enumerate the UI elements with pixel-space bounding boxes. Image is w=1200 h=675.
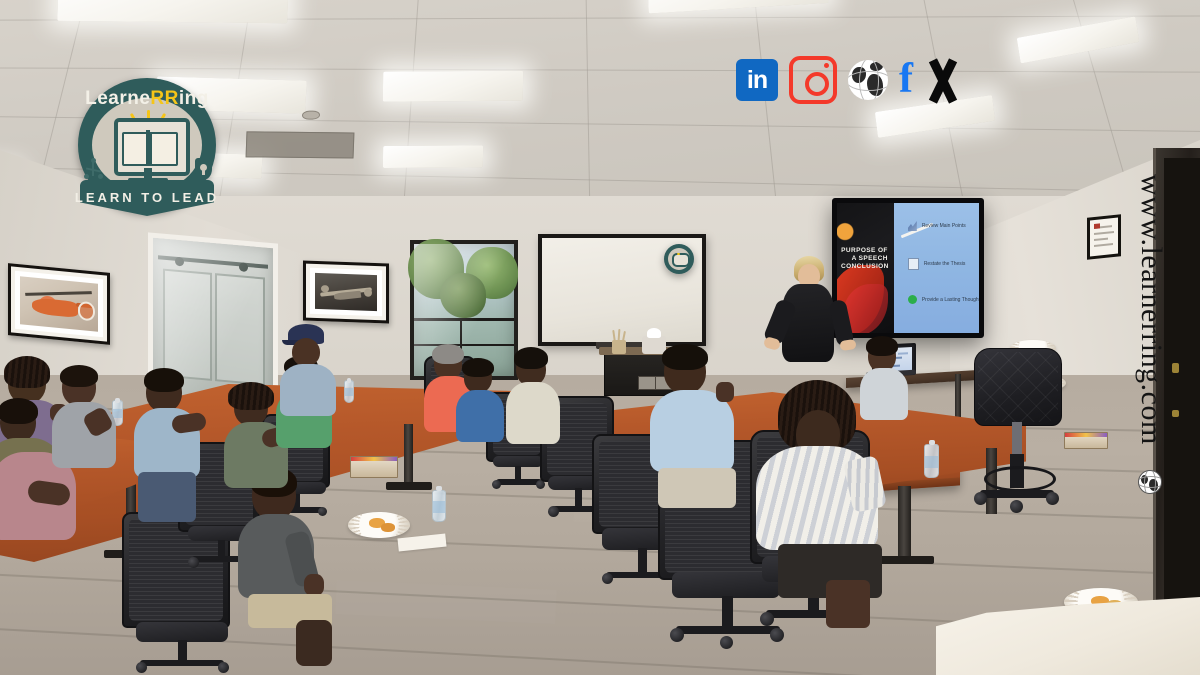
social-icon-row: in f: [736, 56, 962, 104]
ceiling-light: [383, 145, 483, 168]
linkedin-icon-label: in: [747, 68, 767, 93]
table-leg: [404, 424, 413, 486]
logo-brand-part2: RR: [150, 88, 178, 109]
url-globe-icon: [1138, 470, 1162, 494]
x-twitter-icon[interactable]: [924, 61, 962, 99]
table-leg: [898, 486, 911, 560]
slide-title: PURPOSE OF A SPEECH CONCLUSION: [841, 247, 888, 271]
open-book-icon: [150, 132, 178, 166]
snack-plate: [348, 512, 410, 538]
student: [130, 372, 208, 522]
student: [650, 348, 744, 538]
logo-tagline: LEARN TO LEAD: [62, 190, 232, 205]
learnerring-logo: LearneRRing LEARN TO LEAD: [62, 70, 232, 230]
presentation-tv: PURPOSE OF A SPEECH CONCLUSION Review Ma…: [832, 198, 984, 338]
facebook-icon-label: f: [899, 61, 913, 99]
whiteboard: [538, 234, 706, 346]
book-stack: [350, 456, 398, 478]
helicopter-photo: [8, 263, 110, 345]
slide-bullet-text: Review Main Points: [922, 223, 966, 229]
osprey-photo: [303, 260, 389, 323]
slide-bullet-text: Restate the Thesis: [924, 261, 966, 267]
student: [506, 352, 568, 470]
logo-brand-name: LearneRRing: [62, 88, 232, 110]
student: [52, 368, 124, 508]
linkedin-icon[interactable]: in: [736, 59, 778, 101]
book-stack: [1064, 432, 1108, 449]
facebook-icon[interactable]: f: [899, 61, 913, 99]
globe-icon[interactable]: [848, 60, 888, 100]
document-icon: [908, 258, 919, 270]
slide-bullet: Provide a Lasting Thought: [908, 295, 979, 304]
water-bottle: [924, 440, 939, 478]
slide-body-panel: Review Main Points Restate the Thesis Pr…: [894, 203, 979, 333]
presenter: [776, 256, 846, 388]
student: [456, 362, 512, 466]
network-node-icon: [84, 158, 104, 182]
slide-bullet-text: Provide a Lasting Thought: [922, 297, 979, 303]
pencil-cup: [612, 340, 626, 354]
smoke-detector-icon: [302, 110, 320, 119]
quilted-office-stool[interactable]: [968, 348, 1064, 518]
chart-pen-icon: [908, 221, 917, 231]
ceiling-light: [383, 71, 524, 102]
water-bottle: [432, 486, 446, 522]
green-dot-icon: [908, 295, 917, 304]
tv-screen: PURPOSE OF A SPEECH CONCLUSION Review Ma…: [837, 203, 979, 333]
logo-brand-part1: Learne: [85, 88, 150, 109]
ceiling-light: [57, 0, 288, 23]
photo-screenshot: PURPOSE OF A SPEECH CONCLUSION Review Ma…: [0, 0, 1200, 675]
shield-icon: [195, 158, 212, 180]
website-url: www.learnerring.com: [1134, 174, 1168, 445]
whiteboard-logo-decal: [664, 244, 694, 274]
slide-bullet: Review Main Points: [908, 221, 966, 231]
slide-bullet: Restate the Thesis: [908, 258, 966, 270]
student: [756, 380, 896, 630]
instagram-icon[interactable]: [789, 56, 837, 104]
water-bottle: [344, 378, 354, 403]
framed-certificate: [1087, 214, 1121, 260]
logo-brand-part3: ing: [179, 88, 209, 109]
ceiling-vent: [246, 131, 355, 158]
adult-with-cap: [280, 324, 342, 416]
table-foot: [386, 482, 432, 490]
